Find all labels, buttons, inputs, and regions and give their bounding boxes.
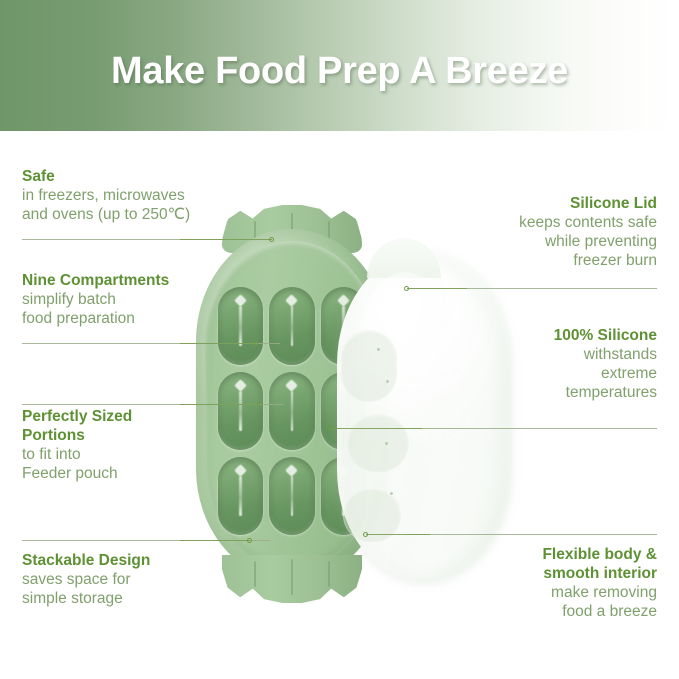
feature-nine-compartments-heading: Nine Compartments [22,272,169,291]
compartment-cell [321,457,366,535]
feature-perfectly-sized-portions-line-2: Feeder pouch [22,465,132,484]
tray-body [196,229,388,581]
feature-safe-line-2: and ovens (up to 250℃) [22,206,190,225]
tray-bottom-tab [222,555,362,603]
lid-bump [341,330,397,402]
leader-line-portions [180,404,260,405]
feature-safe-line-1: in freezers, microwaves [22,187,190,206]
leader-dot-silicone [329,426,334,431]
feature-nine-compartments: Nine Compartments simplify batch food pr… [22,272,169,329]
leader-line-safe [180,239,272,240]
compartment-cell [218,457,263,535]
tray-rim [205,241,379,569]
feature-flexible-body: Flexible body & smooth interior make rem… [542,546,657,622]
feature-100-percent-silicone-heading: 100% Silicone [554,327,657,346]
leader-dot-flexible [363,532,368,537]
lid-sheen [355,272,457,444]
leader-line-compartments [180,343,256,344]
feature-flexible-body-line-1: make removing [542,584,657,603]
feature-silicone-lid-line-1: keeps contents safe [519,214,657,233]
leader-dot-safe [269,237,274,242]
feature-silicone-lid: Silicone Lid keeps contents safe while p… [519,195,657,271]
feature-flexible-body-heading: Flexible body & smooth interior [542,546,657,584]
feature-stackable-design-heading: Stackable Design [22,552,150,571]
feature-silicone-lid-line-3: freezer burn [519,252,657,271]
feature-stackable-design-line-1: saves space for [22,571,150,590]
feature-flexible-body-line-2: food a breeze [542,603,657,622]
lid-pin [377,348,380,351]
compartment-cell [321,287,366,365]
feature-perfectly-sized-portions-line-1: to fit into [22,446,132,465]
divider-right-2 [395,428,657,429]
compartment-grid [218,287,366,535]
compartment-cell [218,372,263,450]
feature-perfectly-sized-portions: Perfectly Sized Portions to fit into Fee… [22,408,132,484]
feature-silicone-lid-line-2: while preventing [519,233,657,252]
compartment-cell [321,372,366,450]
compartment-cell [269,372,314,450]
feature-safe: Safe in freezers, microwaves and ovens (… [22,168,190,225]
compartment-cell [269,457,314,535]
feature-100-percent-silicone-line-1: withstands [554,346,657,365]
lid-pin [390,492,393,495]
feature-nine-compartments-line-2: food preparation [22,310,169,329]
leader-line-stackable [180,540,250,541]
leader-line-silicone [332,428,422,429]
tray-top-tab [222,205,362,253]
leader-dot-portions [257,402,262,407]
leader-dot-stackable [247,538,252,543]
lid-bump [347,414,409,472]
feature-100-percent-silicone: 100% Silicone withstands extreme tempera… [554,327,657,403]
feature-silicone-lid-heading: Silicone Lid [519,195,657,214]
lid-pin [386,380,389,383]
compartment-cell [269,287,314,365]
lid-tab [367,238,441,278]
feature-perfectly-sized-portions-heading: Perfectly Sized Portions [22,408,132,446]
feature-stackable-design-line-2: simple storage [22,590,150,609]
leader-dot-compartments [253,341,258,346]
feature-stackable-design: Stackable Design saves space for simple … [22,552,150,609]
compartment-cell [218,287,263,365]
leader-line-lid [407,288,467,289]
leader-line-flexible [366,534,430,535]
feature-100-percent-silicone-line-3: temperatures [554,384,657,403]
leader-dot-lid [404,286,409,291]
feature-safe-heading: Safe [22,168,190,187]
lid-pin [385,442,388,445]
feature-100-percent-silicone-line-2: extreme [554,365,657,384]
page-title: Make Food Prep A Breeze [0,0,679,131]
feature-nine-compartments-line-1: simplify batch [22,291,169,310]
divider-right-3 [405,534,657,535]
